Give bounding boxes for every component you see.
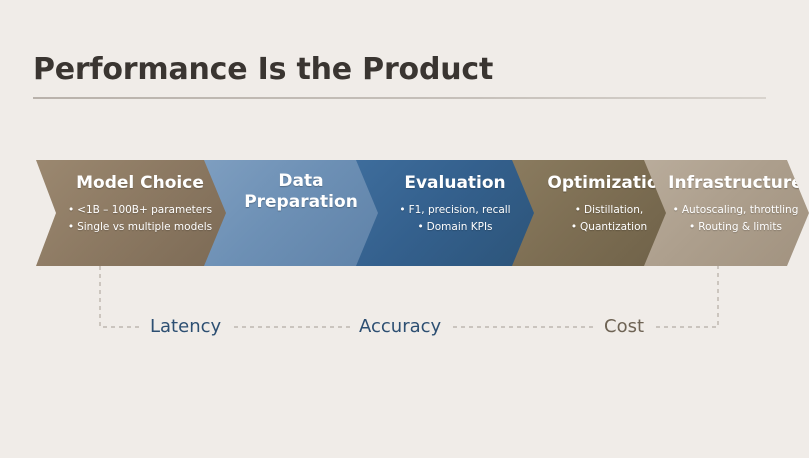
bullet-text: Quantization [580,221,647,233]
stage-content: Model Choice •<1B – 100B+ parameters •Si… [36,160,228,266]
bullet-text: Domain KPIs [427,221,493,233]
stage-bullet: •Autoscaling, throttling [666,202,805,219]
page-title: Performance Is the Product [33,50,768,90]
connector-right-bracket [656,266,718,327]
pipeline-stage-data-preparation[interactable]: Data Preparation [204,160,380,266]
bullet-dot-icon: • [673,204,679,216]
bullet-dot-icon: • [689,221,695,233]
stage-title: Data Preparation [222,171,380,213]
metric-label-accuracy: Accuracy [359,316,441,338]
stage-bullet: •Routing & limits [666,219,805,236]
pipeline-stage-infrastructure[interactable]: Infrastructure •Autoscaling, throttling … [644,160,809,266]
title-underline-rule [33,97,766,99]
pipeline-chevron-band: Model Choice •<1B – 100B+ parameters •Si… [0,160,809,266]
stage-content: Evaluation •F1, precision, recall •Domai… [356,160,536,266]
bullet-text: <1B – 100B+ parameters [77,204,212,216]
pipeline-stage-model-choice[interactable]: Model Choice •<1B – 100B+ parameters •Si… [36,160,228,266]
stage-bullet-list: •<1B – 100B+ parameters •Single vs multi… [52,202,228,236]
stage-title: Infrastructure [668,173,803,194]
title-block: Performance Is the Product [33,50,768,99]
stage-title: Model Choice [76,173,204,194]
stage-bullet-list: •Autoscaling, throttling •Routing & limi… [662,202,809,236]
connector-left-bracket [100,266,143,327]
stage-bullet: •Distillation, [534,202,684,219]
bullet-dot-icon: • [399,204,405,216]
stage-bullet-list: •F1, precision, recall •Domain KPIs [374,202,536,236]
bullet-text: Single vs multiple models [77,221,212,233]
pipeline-stage-evaluation[interactable]: Evaluation •F1, precision, recall •Domai… [356,160,536,266]
bullet-text: F1, precision, recall [409,204,511,216]
bullet-dot-icon: • [575,204,581,216]
bullet-dot-icon: • [68,221,74,233]
stage-bullet: •Single vs multiple models [56,219,224,236]
stage-title: Evaluation [404,173,505,194]
metric-label-cost: Cost [604,316,644,338]
stage-content: Data Preparation [204,160,380,266]
bullet-text: Autoscaling, throttling [682,204,799,216]
bullet-dot-icon: • [571,221,577,233]
bullet-dot-icon: • [68,204,74,216]
stage-content: Infrastructure •Autoscaling, throttling … [644,160,809,266]
bullet-text: Distillation, [584,204,643,216]
stage-bullet: •<1B – 100B+ parameters [56,202,224,219]
bullet-text: Routing & limits [698,221,782,233]
stage-bullet: •Domain KPIs [378,219,532,236]
stage-bullet: •F1, precision, recall [378,202,532,219]
bullet-dot-icon: • [417,221,423,233]
metric-label-latency: Latency [150,316,221,338]
